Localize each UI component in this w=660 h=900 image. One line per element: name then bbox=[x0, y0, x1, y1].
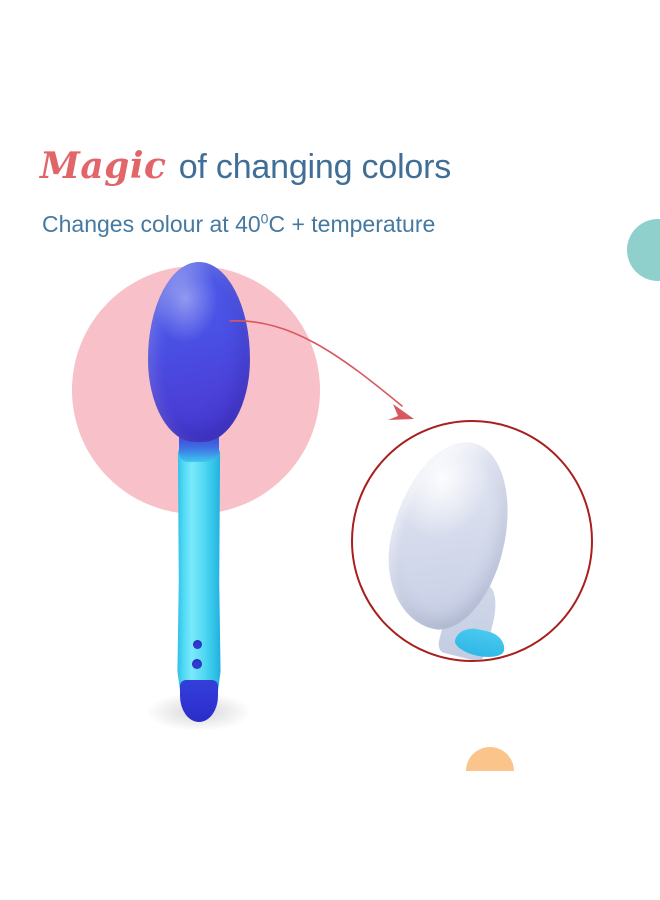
zoom-detail-circle bbox=[351, 420, 593, 662]
page-title: Magic of changing colors bbox=[40, 144, 451, 189]
teal-circle-decoration bbox=[627, 219, 660, 281]
zoom-spoon-bowl bbox=[372, 429, 527, 640]
spoon-handle bbox=[177, 446, 221, 708]
handle-dot-2 bbox=[192, 659, 202, 669]
headline-accent-word: Magic bbox=[40, 145, 169, 187]
subtitle-prefix: Changes colour at 40 bbox=[42, 211, 261, 237]
product-feature-slide: Magic of changing colors Changes colour … bbox=[0, 0, 660, 900]
page-subtitle: Changes colour at 400C + temperature bbox=[42, 208, 435, 240]
subtitle-suffix: C + temperature bbox=[268, 211, 435, 237]
curved-arrow-icon bbox=[190, 300, 440, 440]
handle-dot-1 bbox=[193, 640, 202, 649]
orange-semicircle-decoration bbox=[466, 747, 514, 771]
headline-rest-text: of changing colors bbox=[169, 148, 451, 186]
